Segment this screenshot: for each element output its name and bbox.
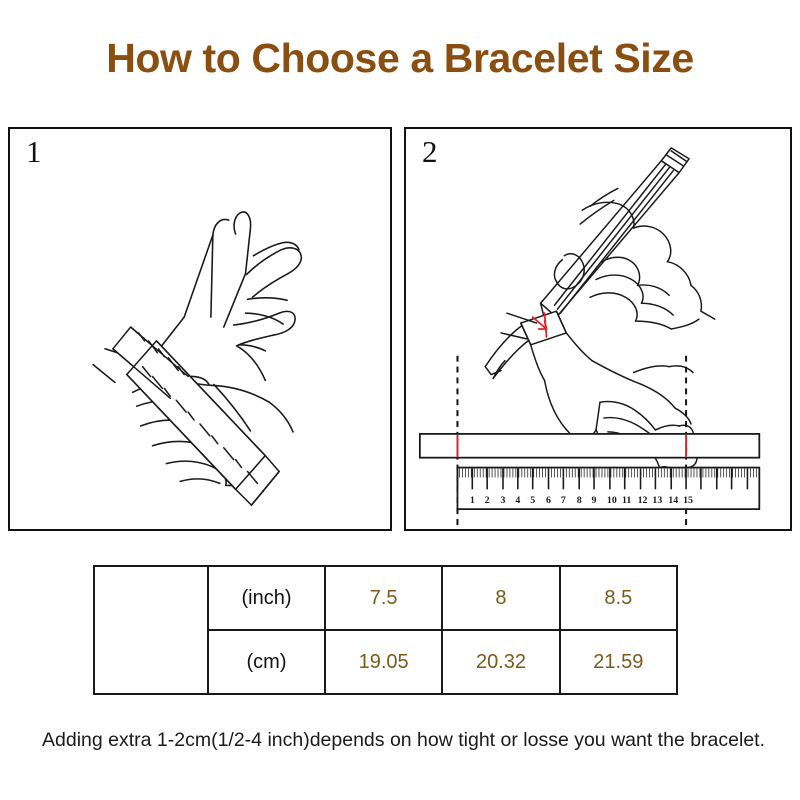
illustration-panel-2: 2 bbox=[404, 127, 792, 531]
unit-cell-cm: (cm) bbox=[208, 630, 325, 694]
svg-text:8: 8 bbox=[577, 495, 582, 506]
footnote-text: Adding extra 1-2cm(1/2-4 inch)depends on… bbox=[42, 722, 772, 759]
svg-text:3: 3 bbox=[501, 495, 506, 506]
panel-number-1: 1 bbox=[26, 133, 42, 170]
svg-text:4: 4 bbox=[515, 495, 520, 506]
svg-text:9: 9 bbox=[592, 495, 597, 506]
svg-text:7: 7 bbox=[561, 495, 566, 506]
table-row-header: Bracelet bbox=[94, 566, 208, 694]
svg-text:12: 12 bbox=[638, 495, 648, 506]
svg-text:14: 14 bbox=[668, 495, 678, 506]
bracelet-size-table: Bracelet (inch) 7.5 8 8.5 (cm) 19.05 20.… bbox=[93, 565, 678, 695]
unit-cell-inch: (inch) bbox=[208, 566, 325, 630]
svg-text:11: 11 bbox=[622, 495, 631, 506]
panel-number-2: 2 bbox=[422, 133, 438, 170]
inch-value-1: 7.5 bbox=[325, 566, 442, 630]
page-title: How to Choose a Bracelet Size bbox=[0, 36, 800, 81]
svg-text:10: 10 bbox=[607, 495, 617, 506]
cm-value-1: 19.05 bbox=[325, 630, 442, 694]
illustration-panel-1: 1 bbox=[8, 127, 392, 531]
inch-value-3: 8.5 bbox=[560, 566, 677, 630]
svg-text:5: 5 bbox=[530, 495, 535, 506]
hand-with-measuring-tape-icon bbox=[10, 129, 390, 529]
ruler: 1 2 3 4 5 6 7 8 9 10 11 12 13 14 15 bbox=[457, 468, 759, 510]
svg-text:13: 13 bbox=[652, 495, 662, 506]
hand-marking-paper-strip-with-ruler-icon: 1 2 3 4 5 6 7 8 9 10 11 12 13 14 15 bbox=[406, 129, 790, 529]
svg-text:6: 6 bbox=[546, 495, 551, 506]
cm-value-3: 21.59 bbox=[560, 630, 677, 694]
table-row: Bracelet (inch) 7.5 8 8.5 bbox=[94, 566, 677, 630]
paper-strip bbox=[420, 434, 759, 458]
svg-text:1: 1 bbox=[470, 495, 475, 506]
inch-value-2: 8 bbox=[442, 566, 559, 630]
cm-value-2: 20.32 bbox=[442, 630, 559, 694]
svg-text:15: 15 bbox=[683, 495, 693, 506]
svg-text:2: 2 bbox=[485, 495, 490, 506]
